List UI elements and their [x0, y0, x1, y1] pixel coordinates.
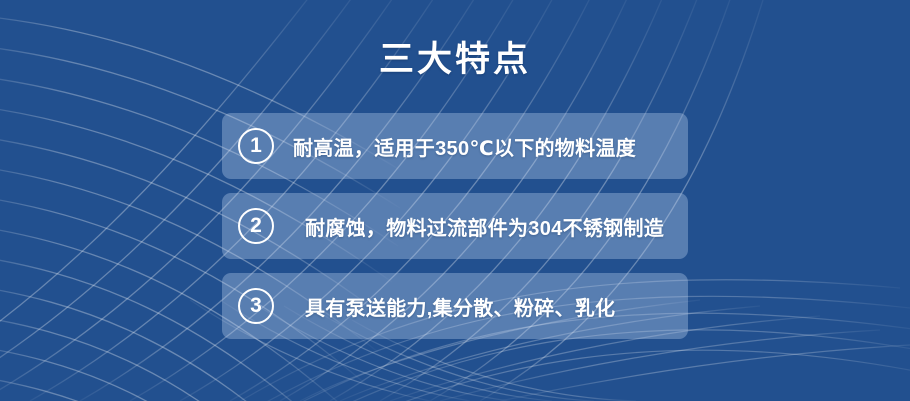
feature-list: 1 耐高温，适用于350℃以下的物料温度 2 耐腐蚀，物料过流部件为304不锈钢…	[222, 113, 688, 339]
feature-text-3: 具有泵送能力,集分散、粉碎、乳化	[305, 292, 615, 321]
feature-text-2: 耐腐蚀，物料过流部件为304不锈钢制造	[305, 212, 664, 241]
feature-number-badge-1: 1	[238, 128, 274, 164]
feature-card-2[interactable]: 2 耐腐蚀，物料过流部件为304不锈钢制造	[222, 193, 688, 259]
feature-number-badge-3: 3	[238, 288, 274, 324]
feature-text-1: 耐高温，适用于350℃以下的物料温度	[293, 132, 636, 161]
feature-card-3[interactable]: 3 具有泵送能力,集分散、粉碎、乳化	[222, 273, 688, 339]
page-title: 三大特点	[0, 38, 910, 82]
feature-number-badge-2: 2	[238, 208, 274, 244]
feature-poster: 三大特点 1 耐高温，适用于350℃以下的物料温度 2 耐腐蚀，物料过流部件为3…	[0, 0, 910, 401]
feature-card-1[interactable]: 1 耐高温，适用于350℃以下的物料温度	[222, 113, 688, 179]
